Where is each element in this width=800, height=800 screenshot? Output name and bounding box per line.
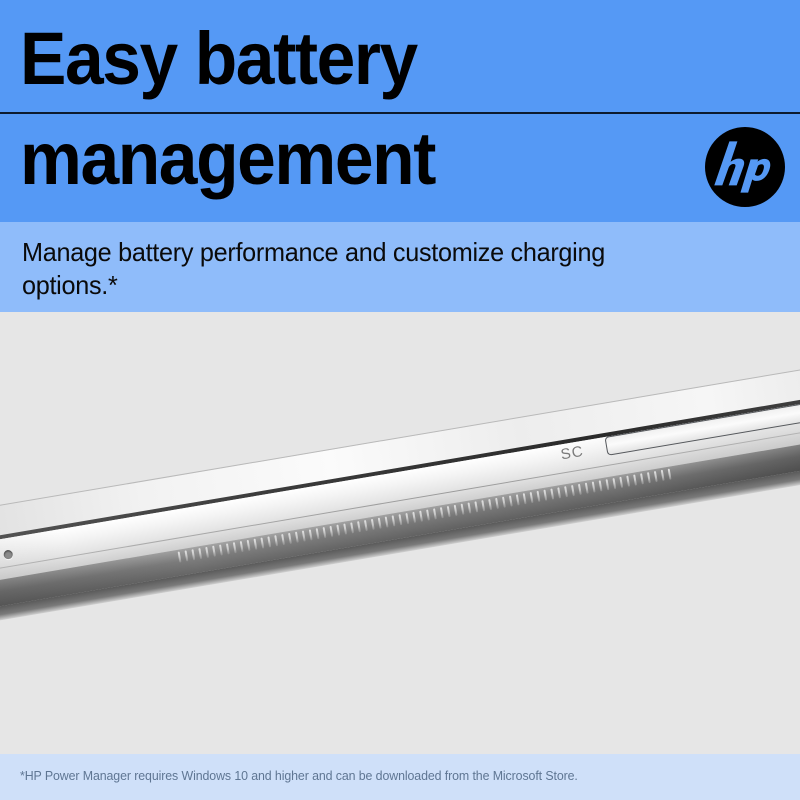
vent-slot: [419, 511, 423, 522]
vent-slot: [309, 529, 313, 540]
vent-slot: [219, 544, 223, 555]
vent-slot: [509, 495, 513, 506]
laptop-device-image: SC: [0, 350, 800, 655]
vent-slot: [260, 537, 264, 548]
vent-slot: [481, 500, 485, 511]
header-band: Easy battery management: [0, 0, 800, 222]
vent-slot: [440, 507, 444, 518]
product-image-area: SC: [0, 312, 800, 754]
vent-slot: [385, 516, 389, 527]
vent-slot: [537, 491, 541, 502]
vent-slot: [433, 508, 437, 519]
footnote-disclaimer: *HP Power Manager requires Windows 10 an…: [20, 769, 578, 783]
footer-band: *HP Power Manager requires Windows 10 an…: [0, 754, 800, 800]
vent-slot: [350, 522, 354, 533]
vent-slot: [191, 549, 195, 560]
vent-slot: [557, 487, 561, 498]
vent-slot: [198, 548, 202, 559]
vent-slot: [488, 499, 492, 510]
vent-slot: [468, 502, 472, 513]
vent-slot: [302, 530, 306, 541]
vent-slot: [364, 520, 368, 531]
vent-slot: [612, 478, 616, 489]
vent-slot: [550, 488, 554, 499]
vent-slot: [606, 479, 610, 490]
vent-slot: [523, 493, 527, 504]
vent-slot: [392, 515, 396, 526]
vent-slot: [619, 477, 623, 488]
vent-slot: [599, 480, 603, 491]
vent-slot: [585, 483, 589, 494]
vent-slot: [633, 474, 637, 485]
vent-slot: [571, 485, 575, 496]
vent-slot: [626, 476, 630, 487]
headline-line-1: Easy battery: [20, 22, 417, 96]
vent-slot: [226, 543, 230, 554]
vent-slot: [212, 546, 216, 557]
vent-slot: [233, 542, 237, 553]
subtitle-text: Manage battery performance and customize…: [22, 236, 643, 302]
vent-slot: [288, 533, 292, 544]
vent-slot: [647, 472, 651, 483]
vent-slot: [267, 536, 271, 547]
vent-slot: [357, 521, 361, 532]
vent-slot: [254, 539, 258, 550]
vent-slot: [185, 550, 189, 561]
vent-slot: [474, 501, 478, 512]
vent-slot: [323, 527, 327, 538]
header-divider-rule: [0, 112, 800, 114]
vent-slot: [495, 498, 499, 509]
vent-slot: [426, 509, 430, 520]
vent-slot: [336, 525, 340, 536]
vent-slot: [405, 513, 409, 524]
vent-slot: [274, 535, 278, 546]
vent-slot: [240, 541, 244, 552]
vent-slot: [454, 505, 458, 516]
vent-slot: [247, 540, 251, 551]
vent-slot: [640, 473, 644, 484]
vent-slot: [447, 506, 451, 517]
vent-slot: [178, 551, 182, 562]
headline-line-2: management: [20, 122, 435, 196]
vent-slot: [343, 523, 347, 534]
vent-slot: [281, 534, 285, 545]
subtitle-band: Manage battery performance and customize…: [0, 222, 800, 312]
vent-slot: [564, 486, 568, 497]
vent-slot: [530, 492, 534, 503]
vent-slot: [592, 481, 596, 492]
vent-slot: [295, 532, 299, 543]
vent-slot: [543, 490, 547, 501]
vent-slot: [371, 519, 375, 530]
vent-slot: [668, 469, 672, 480]
vent-slot: [398, 514, 402, 525]
hp-logo-icon: [705, 127, 785, 207]
vent-slot: [578, 484, 582, 495]
vent-slot: [654, 471, 658, 482]
marketing-slide: Easy battery management Manage battery p…: [0, 0, 800, 800]
vent-slot: [378, 518, 382, 529]
vent-slot: [502, 497, 506, 508]
vent-slot: [516, 494, 520, 505]
vent-slot: [316, 528, 320, 539]
vent-slot: [205, 547, 209, 558]
vent-slot: [661, 470, 665, 481]
vent-slot: [329, 526, 333, 537]
vent-slot: [461, 504, 465, 515]
vent-slot: [412, 512, 416, 523]
